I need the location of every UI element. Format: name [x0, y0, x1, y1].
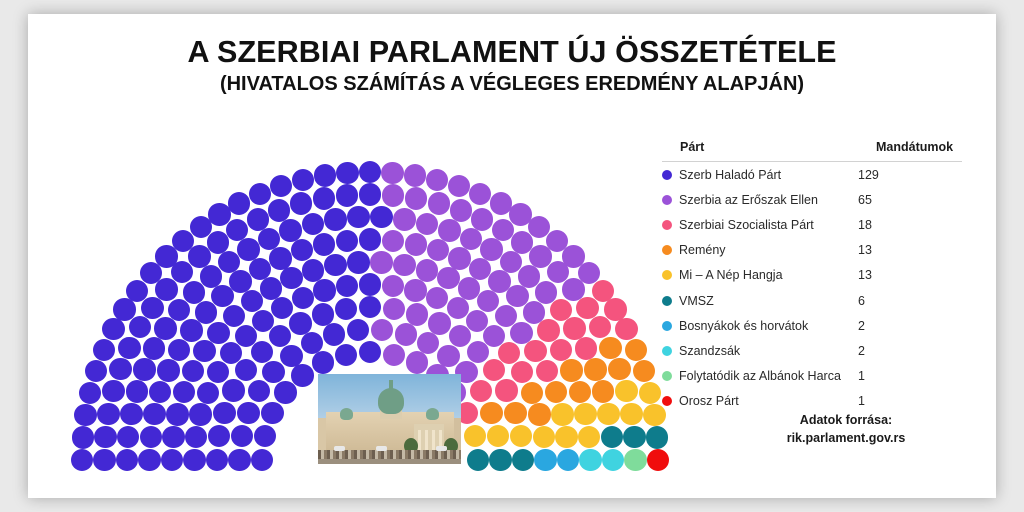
- parliament-seat: [143, 337, 165, 359]
- legend-header-seats: Mandátumok: [876, 140, 962, 154]
- parliament-seat: [427, 239, 449, 261]
- parliament-seat: [291, 364, 313, 386]
- parliament-seat: [102, 318, 124, 340]
- parliament-seat: [528, 403, 550, 425]
- parliament-seat: [579, 449, 601, 471]
- parliament-seat: [85, 360, 107, 382]
- parliament-seat: [382, 275, 404, 297]
- parliament-hemicycle-chart: [80, 142, 660, 472]
- parliament-seat: [470, 380, 492, 402]
- parliament-seat: [228, 449, 250, 471]
- parliament-seat: [406, 351, 428, 373]
- parliament-seat: [393, 254, 415, 276]
- parliament-seat: [270, 175, 292, 197]
- parliament-seat: [168, 339, 190, 361]
- legend-color-dot: [662, 220, 672, 230]
- parliament-seat: [395, 323, 417, 345]
- parliament-seat: [249, 183, 271, 205]
- parliament-seat: [237, 238, 259, 260]
- parliament-seat: [248, 380, 270, 402]
- parliament-seat: [335, 344, 357, 366]
- parliament-seat: [241, 290, 263, 312]
- parliament-seat: [584, 358, 606, 380]
- parliament-seat: [448, 247, 470, 269]
- legend-color-dot: [662, 245, 672, 255]
- parliament-seat: [555, 426, 577, 448]
- legend-color-dot: [662, 371, 672, 381]
- parliament-seat: [291, 239, 313, 261]
- parliament-seat: [188, 245, 210, 267]
- legend-party-label: Szerbiai Szocialista Párt: [679, 218, 814, 232]
- parliament-seat: [512, 449, 534, 471]
- parliament-seat: [336, 230, 358, 252]
- parliament-seat: [511, 361, 533, 383]
- parliament-seat: [437, 267, 459, 289]
- parliament-seat: [129, 316, 151, 338]
- parliament-seat: [72, 426, 94, 448]
- parliament-seat: [231, 425, 253, 447]
- parliament-seat: [189, 403, 211, 425]
- infographic-card: A SZERBIAI PARLAMENT ÚJ ÖSSZETÉTELE (HIV…: [28, 14, 996, 498]
- parliament-seat: [157, 359, 179, 381]
- parliament-seat: [207, 231, 229, 253]
- parliament-seat: [469, 183, 491, 205]
- parliament-seat: [79, 382, 101, 404]
- parliament-seat: [154, 317, 176, 339]
- legend-row: VMSZ6: [662, 288, 962, 313]
- parliament-seat: [359, 273, 381, 295]
- legend-seat-count: 13: [858, 243, 944, 257]
- legend-row: Szerb Haladó Párt129: [662, 162, 962, 187]
- parliament-building-photo: [318, 374, 461, 464]
- parliament-seat: [161, 449, 183, 471]
- parliament-seat: [557, 449, 579, 471]
- parliament-seat: [71, 449, 93, 471]
- legend-color-dot: [662, 396, 672, 406]
- parliament-seat: [249, 258, 271, 280]
- parliament-seat: [117, 426, 139, 448]
- parliament-seat: [624, 449, 646, 471]
- parliament-seat: [536, 360, 558, 382]
- legend-row: Szerbia az Erőszak Ellen65: [662, 187, 962, 212]
- legend-party-label: Szerbia az Erőszak Ellen: [679, 193, 818, 207]
- parliament-seat: [615, 380, 637, 402]
- parliament-seat: [182, 360, 204, 382]
- parliament-seat: [313, 233, 335, 255]
- legend-party-label: Remény: [679, 243, 726, 257]
- legend-seat-count: 129: [858, 168, 944, 182]
- page-subtitle: (HIVATALOS SZÁMÍTÁS A VÉGLEGES EREDMÉNY …: [28, 73, 996, 96]
- parliament-seat: [406, 303, 428, 325]
- parliament-seat: [149, 381, 171, 403]
- parliament-seat: [597, 403, 619, 425]
- parliament-seat: [393, 208, 415, 230]
- legend-seat-count: 6: [858, 294, 944, 308]
- parliament-seat: [426, 287, 448, 309]
- legend-color-dot: [662, 346, 672, 356]
- legend-seat-count: 2: [858, 344, 944, 358]
- parliament-seat: [633, 360, 655, 382]
- parliament-seat: [347, 319, 369, 341]
- parliament-seat: [251, 449, 273, 471]
- parliament-seat: [109, 358, 131, 380]
- parliament-seat: [313, 187, 335, 209]
- parliament-seat: [302, 213, 324, 235]
- parliament-seat: [324, 208, 346, 230]
- legend-header: Párt Mandátumok: [662, 140, 962, 162]
- parliament-seat: [370, 251, 392, 273]
- parliament-seat: [290, 192, 312, 214]
- legend-seat-count: 1: [858, 394, 944, 408]
- legend-row: Szandzsák2: [662, 338, 962, 363]
- parliament-seat: [464, 425, 486, 447]
- parliament-seat: [599, 337, 621, 359]
- parliament-seat: [113, 298, 135, 320]
- parliament-seat: [173, 381, 195, 403]
- legend-row: Szerbiai Szocialista Párt18: [662, 212, 962, 237]
- parliament-seat: [620, 403, 642, 425]
- parliament-seat: [576, 297, 598, 319]
- parliament-seat: [521, 382, 543, 404]
- parliament-seat: [449, 325, 471, 347]
- parliament-seat: [207, 322, 229, 344]
- parliament-seat: [382, 184, 404, 206]
- legend-row: Folytatódik az Albánok Harca1: [662, 364, 962, 389]
- parliament-seat: [545, 381, 567, 403]
- parliament-seat: [94, 426, 116, 448]
- parliament-seat: [382, 230, 404, 252]
- parliament-seat: [608, 358, 630, 380]
- parliament-seat: [359, 228, 381, 250]
- parliament-seat: [383, 344, 405, 366]
- parliament-seat: [336, 275, 358, 297]
- legend-color-dot: [662, 170, 672, 180]
- parliament-seat: [550, 339, 572, 361]
- parliament-seat: [480, 238, 502, 260]
- parliament-seat: [274, 381, 296, 403]
- legend-row: Mi – A Nép Hangja13: [662, 263, 962, 288]
- legend-party-label: Mi – A Nép Hangja: [679, 268, 783, 282]
- source-url: rik.parlament.gov.rs: [728, 430, 964, 448]
- parliament-seat: [448, 175, 470, 197]
- parliament-seat: [206, 449, 228, 471]
- source-attribution: Adatok forrása: rik.parlament.gov.rs: [728, 412, 964, 448]
- parliament-seat: [197, 382, 219, 404]
- parliament-seat: [97, 403, 119, 425]
- parliament-seat: [359, 161, 381, 183]
- parliament-seat: [428, 312, 450, 334]
- legend-party-label: Folytatódik az Albánok Harca: [679, 369, 841, 383]
- legend-row: Remény13: [662, 238, 962, 263]
- parliament-seat: [262, 361, 284, 383]
- parliament-seat: [471, 208, 493, 230]
- parliament-seat: [428, 192, 450, 214]
- parliament-seat: [208, 425, 230, 447]
- parliament-seat: [639, 382, 661, 404]
- parliament-seat: [183, 449, 205, 471]
- legend-seat-count: 1: [858, 369, 944, 383]
- parliament-seat: [560, 359, 582, 381]
- parliament-seat: [589, 316, 611, 338]
- legend-row: Bosnyákok és horvátok2: [662, 313, 962, 338]
- legend-party-label: Szerb Haladó Párt: [679, 168, 781, 182]
- legend-seat-count: 18: [858, 218, 944, 232]
- parliament-seat: [138, 449, 160, 471]
- screenshot-frame: A SZERBIAI PARLAMENT ÚJ ÖSSZETÉTELE (HIV…: [0, 0, 1024, 512]
- parliament-seat: [302, 259, 324, 281]
- parliament-seat: [625, 339, 647, 361]
- parliament-seat: [438, 219, 460, 241]
- parliament-seat: [623, 426, 645, 448]
- parliament-seat: [247, 208, 269, 230]
- parliament-seat: [269, 325, 291, 347]
- parliament-seat: [404, 164, 426, 186]
- parliament-seat: [143, 403, 165, 425]
- parliament-seat: [140, 426, 162, 448]
- parliament-seat: [371, 319, 393, 341]
- parliament-seat: [228, 192, 250, 214]
- parliament-seat: [467, 449, 489, 471]
- legend-color-dot: [662, 296, 672, 306]
- parliament-seat: [574, 403, 596, 425]
- parliament-seat: [118, 337, 140, 359]
- parliament-seat: [534, 449, 556, 471]
- parliament-seat: [120, 403, 142, 425]
- parliament-seat: [460, 228, 482, 250]
- parliament-seat: [450, 199, 472, 221]
- legend-party-label: Bosnyákok és horvátok: [679, 319, 808, 333]
- parliament-seat: [162, 426, 184, 448]
- parliament-seat: [260, 277, 282, 299]
- source-label: Adatok forrása:: [728, 412, 964, 430]
- legend: Párt Mandátumok Szerb Haladó Párt129Szer…: [662, 140, 962, 414]
- parliament-seat: [602, 449, 624, 471]
- legend-row: Orosz Párt1: [662, 389, 962, 414]
- parliament-seat: [575, 337, 597, 359]
- parliament-seat: [524, 340, 546, 362]
- parliament-seat: [292, 169, 314, 191]
- parliament-seat: [126, 380, 148, 402]
- parliament-seat: [254, 425, 276, 447]
- legend-party-label: Orosz Párt: [679, 394, 739, 408]
- parliament-seat: [193, 340, 215, 362]
- parliament-seat: [280, 345, 302, 367]
- parliament-seat: [166, 403, 188, 425]
- parliament-seat: [195, 301, 217, 323]
- legend-seat-count: 65: [858, 193, 944, 207]
- parliament-seat: [185, 426, 207, 448]
- parliament-seat: [416, 259, 438, 281]
- parliament-seat: [74, 404, 96, 426]
- parliament-seat: [312, 351, 334, 373]
- parliament-seat: [251, 341, 273, 363]
- parliament-seat: [359, 341, 381, 363]
- parliament-seat: [347, 251, 369, 273]
- parliament-seat: [417, 332, 439, 354]
- parliament-seat: [405, 233, 427, 255]
- parliament-seat: [280, 267, 302, 289]
- legend-color-dot: [662, 270, 672, 280]
- legend-header-party: Párt: [662, 140, 876, 154]
- parliament-seat: [229, 270, 251, 292]
- parliament-seat: [504, 402, 526, 424]
- parliament-seat: [359, 183, 381, 205]
- parliament-seat: [615, 318, 637, 340]
- parliament-seat: [93, 339, 115, 361]
- parliament-seat: [180, 319, 202, 341]
- legend-color-dot: [662, 321, 672, 331]
- parliament-seat: [487, 425, 509, 447]
- parliament-seat: [223, 305, 245, 327]
- parliament-seat: [447, 297, 469, 319]
- parliament-seat: [116, 449, 138, 471]
- parliament-seat: [601, 426, 623, 448]
- parliament-seat: [646, 426, 668, 448]
- parliament-seat: [222, 379, 244, 401]
- parliament-seat: [510, 425, 532, 447]
- parliament-seat: [279, 219, 301, 241]
- parliament-seat: [336, 184, 358, 206]
- parliament-seat: [578, 426, 600, 448]
- legend-color-dot: [662, 195, 672, 205]
- parliament-seat: [405, 187, 427, 209]
- parliament-seat: [335, 298, 357, 320]
- parliament-seat: [237, 402, 259, 424]
- parliament-seat: [404, 279, 426, 301]
- parliament-seat: [200, 265, 222, 287]
- parliament-seat: [533, 426, 555, 448]
- parliament-seat: [314, 164, 336, 186]
- parliament-seat: [323, 323, 345, 345]
- parliament-seat: [592, 380, 614, 402]
- parliament-seat: [235, 359, 257, 381]
- parliament-seat: [569, 381, 591, 403]
- parliament-seat: [483, 359, 505, 381]
- title-block: A SZERBIAI PARLAMENT ÚJ ÖSSZETÉTELE (HIV…: [28, 36, 996, 96]
- parliament-seat: [155, 278, 177, 300]
- parliament-seat: [324, 254, 346, 276]
- parliament-seat: [480, 402, 502, 424]
- parliament-seat: [489, 449, 511, 471]
- parliament-seat: [495, 379, 517, 401]
- parliament-seat: [313, 279, 335, 301]
- parliament-seat: [647, 449, 669, 471]
- parliament-seat: [347, 206, 369, 228]
- parliament-seat: [381, 162, 403, 184]
- legend-seat-count: 13: [858, 268, 944, 282]
- parliament-seat: [359, 296, 381, 318]
- parliament-seat: [383, 298, 405, 320]
- parliament-seat: [537, 319, 559, 341]
- parliament-seat: [336, 162, 358, 184]
- parliament-seat: [261, 402, 283, 424]
- parliament-seat: [426, 169, 448, 191]
- parliament-seat: [370, 206, 392, 228]
- legend-rows: Szerb Haladó Párt129Szerbia az Erőszak E…: [662, 162, 962, 414]
- legend-seat-count: 2: [858, 319, 944, 333]
- parliament-seat: [551, 403, 573, 425]
- parliament-seat: [102, 380, 124, 402]
- parliament-seat: [292, 287, 314, 309]
- legend-party-label: Szandzsák: [679, 344, 740, 358]
- legend-party-label: VMSZ: [679, 294, 714, 308]
- parliament-seat: [416, 213, 438, 235]
- parliament-seat: [126, 280, 148, 302]
- parliament-seat: [133, 358, 155, 380]
- parliament-seat: [93, 449, 115, 471]
- page-title: A SZERBIAI PARLAMENT ÚJ ÖSSZETÉTELE: [28, 36, 996, 68]
- parliament-seat: [213, 402, 235, 424]
